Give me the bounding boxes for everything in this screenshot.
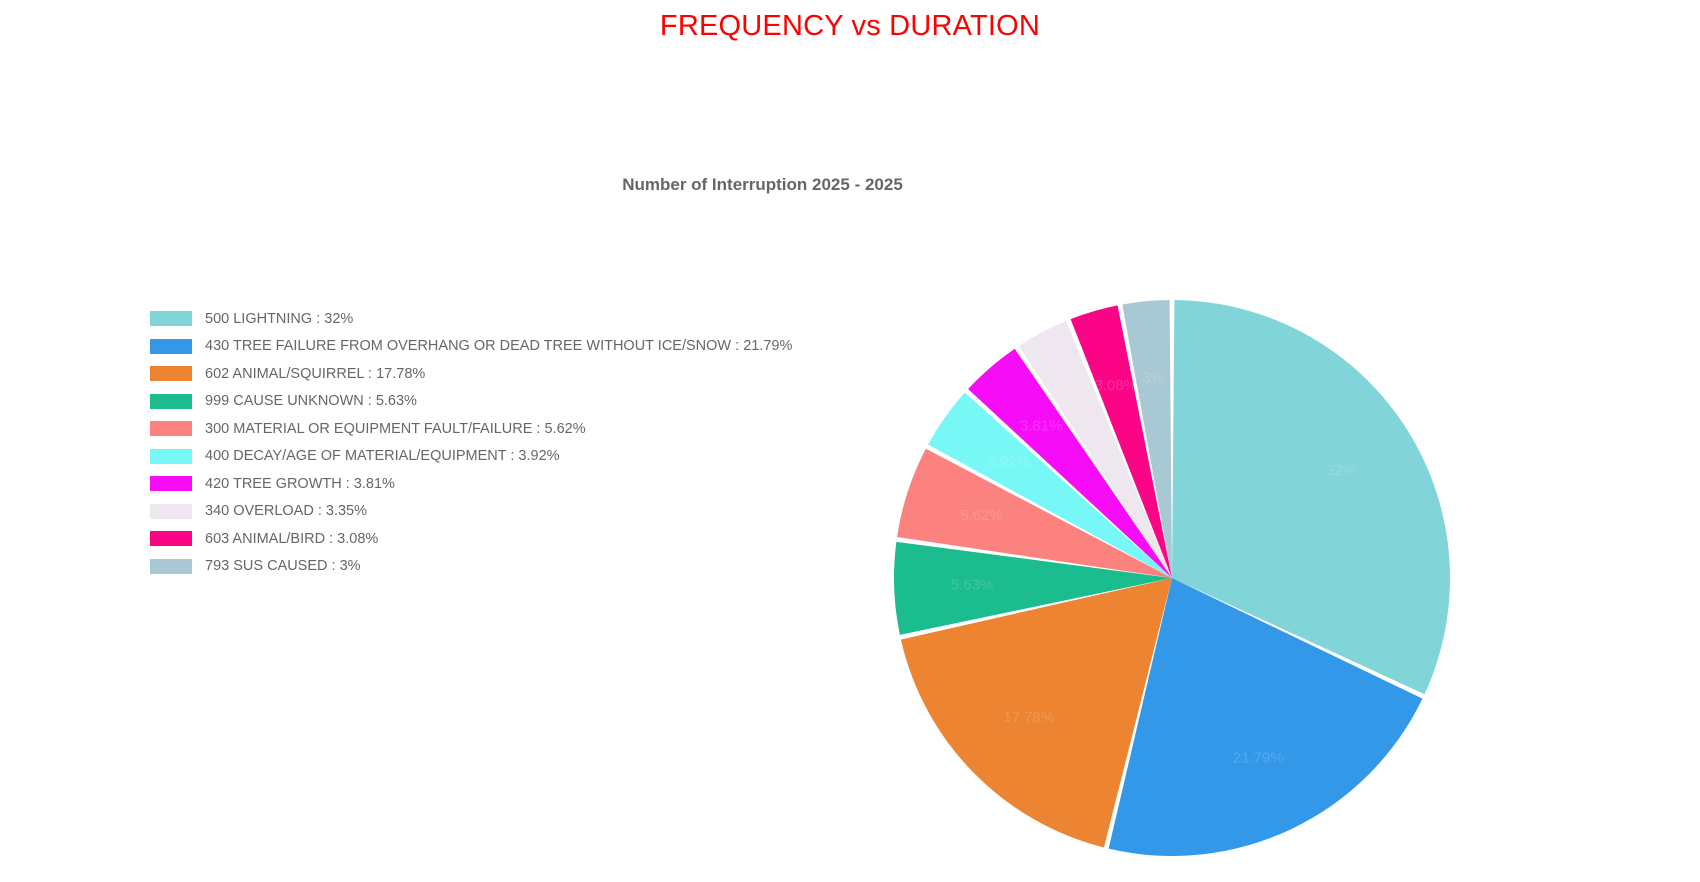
pie-chart: 32%21.79%17.78%5.63%5.62%3.92%3.81%3.35%… — [892, 298, 1452, 858]
legend-item[interactable]: 793 SUS CAUSED : 3% — [150, 553, 870, 581]
legend-item[interactable]: 300 MATERIAL OR EQUIPMENT FAULT/FAILURE … — [150, 415, 870, 443]
legend-item-label: 340 OVERLOAD : 3.35% — [205, 504, 367, 519]
legend-item-label: 300 MATERIAL OR EQUIPMENT FAULT/FAILURE … — [205, 422, 586, 437]
legend-item-label: 793 SUS CAUSED : 3% — [205, 559, 361, 574]
legend-item-label: 420 TREE GROWTH : 3.81% — [205, 477, 395, 492]
legend-swatch — [150, 394, 192, 409]
legend-swatch — [150, 449, 192, 464]
legend-item[interactable]: 420 TREE GROWTH : 3.81% — [150, 470, 870, 498]
legend-item-label: 603 ANIMAL/BIRD : 3.08% — [205, 532, 378, 547]
pie-chart-svg: 32%21.79%17.78%5.63%5.62%3.92%3.81%3.35%… — [892, 298, 1452, 858]
legend-swatch — [150, 559, 192, 574]
legend-swatch — [150, 366, 192, 381]
chart-page: FREQUENCY vs DURATION Number of Interrup… — [0, 0, 1700, 882]
legend-item[interactable]: 400 DECAY/AGE OF MATERIAL/EQUIPMENT : 3.… — [150, 443, 870, 471]
legend-item[interactable]: 340 OVERLOAD : 3.35% — [150, 498, 870, 526]
legend-item-label: 602 ANIMAL/SQUIRREL : 17.78% — [205, 367, 425, 382]
legend-swatch — [150, 531, 192, 546]
legend-item-label: 500 LIGHTNING : 32% — [205, 312, 353, 327]
legend-item-label: 400 DECAY/AGE OF MATERIAL/EQUIPMENT : 3.… — [205, 449, 560, 464]
legend-item[interactable]: 603 ANIMAL/BIRD : 3.08% — [150, 525, 870, 553]
page-title: FREQUENCY vs DURATION — [0, 10, 1700, 43]
legend-item[interactable]: 500 LIGHTNING : 32% — [150, 305, 870, 333]
legend-swatch — [150, 476, 192, 491]
chart-subtitle: Number of Interruption 2025 - 2025 — [0, 175, 1525, 195]
legend-item-label: 430 TREE FAILURE FROM OVERHANG OR DEAD T… — [205, 339, 792, 354]
legend-item[interactable]: 999 CAUSE UNKNOWN : 5.63% — [150, 388, 870, 416]
legend-item[interactable]: 430 TREE FAILURE FROM OVERHANG OR DEAD T… — [150, 333, 870, 361]
legend-item-label: 999 CAUSE UNKNOWN : 5.63% — [205, 394, 417, 409]
legend-swatch — [150, 421, 192, 436]
chart-legend: 500 LIGHTNING : 32%430 TREE FAILURE FROM… — [150, 305, 870, 580]
legend-swatch — [150, 504, 192, 519]
legend-item[interactable]: 602 ANIMAL/SQUIRREL : 17.78% — [150, 360, 870, 388]
legend-swatch — [150, 339, 192, 354]
legend-swatch — [150, 311, 192, 326]
